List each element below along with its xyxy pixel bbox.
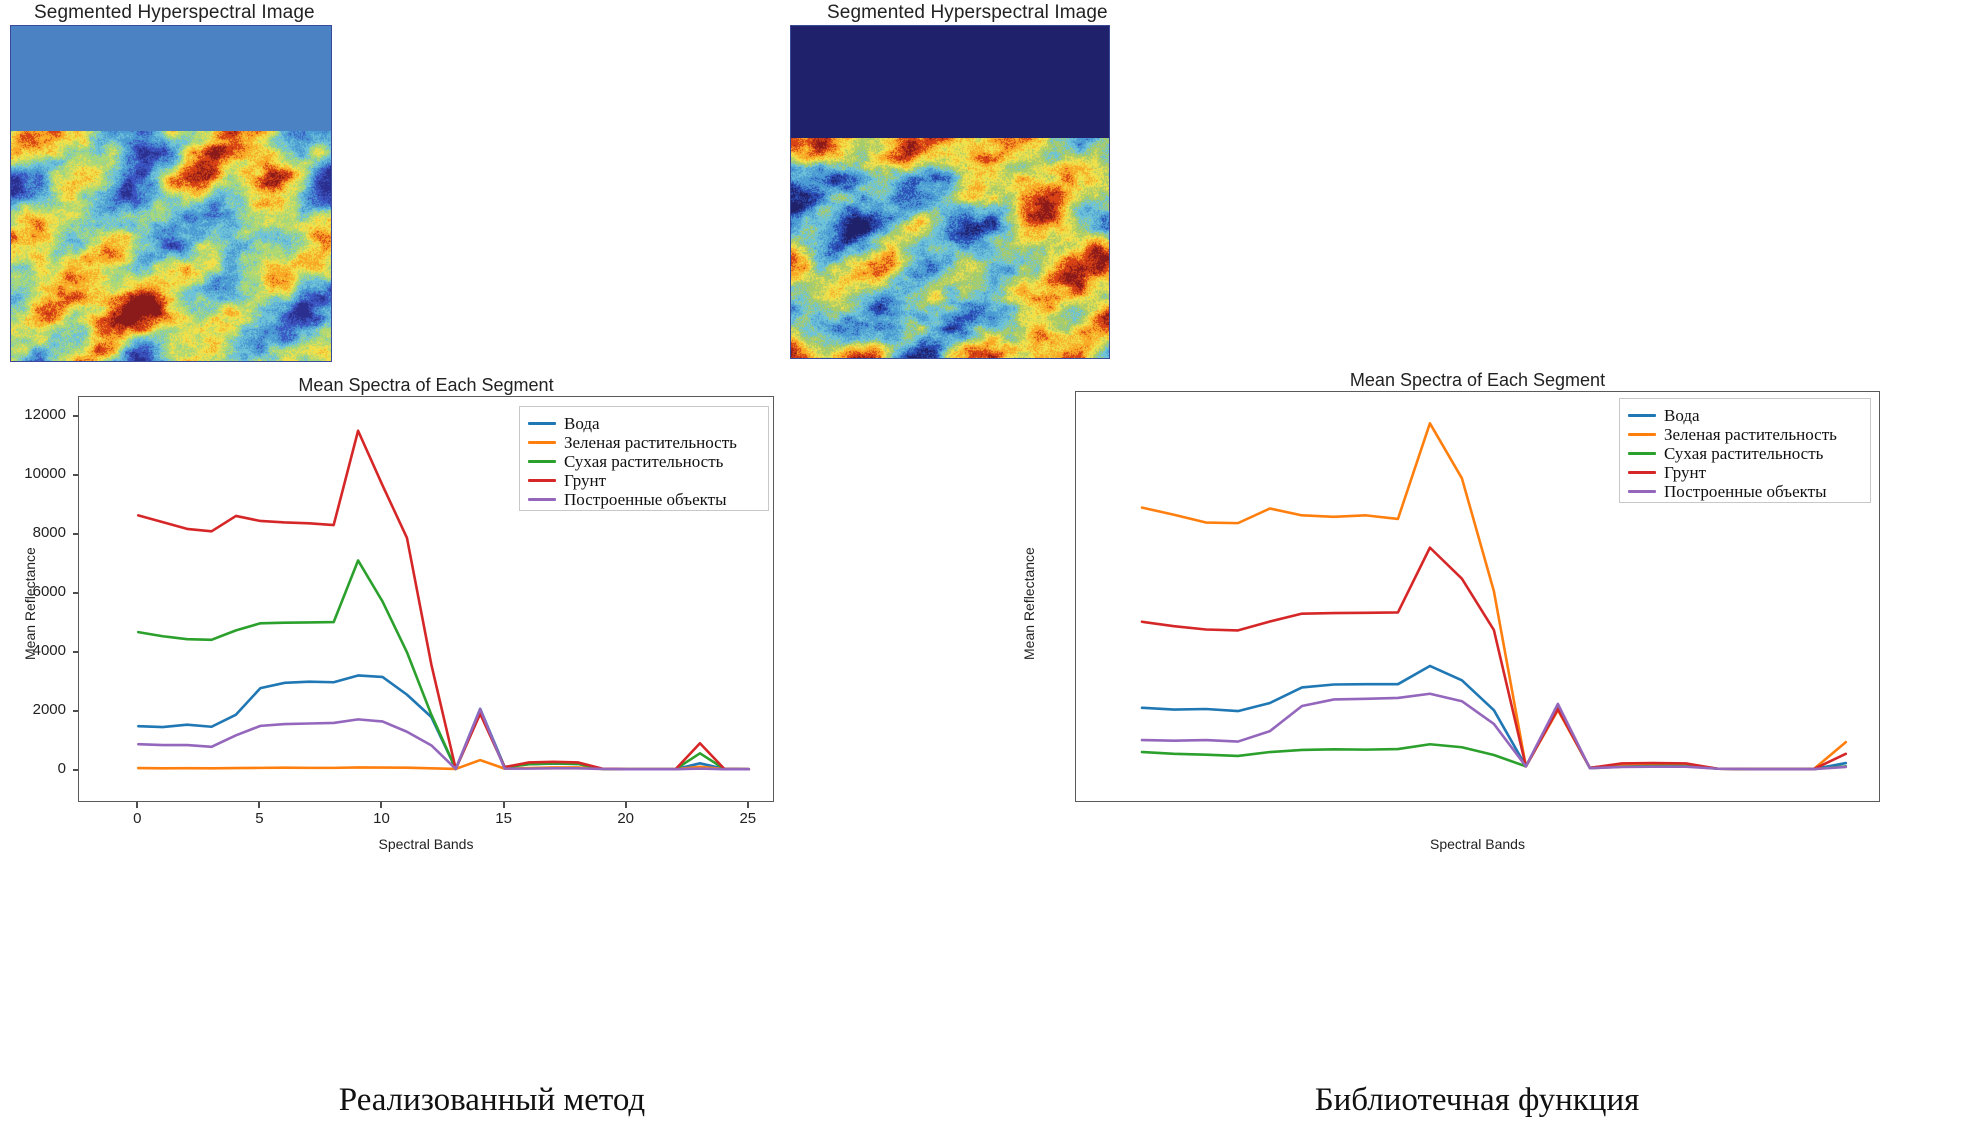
x-tick-mark-4 [625,802,627,808]
segmented-terrain-canvas [791,138,1109,358]
segmented-image-title-right: Segmented Hyperspectral Image [827,2,1108,24]
chart-right-ylabel: Mean Reflectance [1021,547,1037,660]
y-tick-label-3: 6000 [4,583,66,600]
legend-item-1[interactable]: Зеленая растительность [528,433,758,452]
segmented-image-sky-right [791,26,1109,138]
legend-swatch-icon [1628,490,1656,493]
chart-title-left: Mean Spectra of Each Segment [78,375,774,396]
legend-item-0[interactable]: Вода [1628,406,1860,425]
x-tick-mark-3 [503,802,505,808]
x-tick-mark-1 [258,802,260,808]
legend-item-3[interactable]: Грунт [1628,463,1860,482]
legend-item-label: Построенные объекты [564,490,727,509]
segmented-image-terrain-right [791,138,1109,358]
y-tick-mark-0 [73,769,78,771]
y-tick-label-0: 0 [4,760,66,777]
y-tick-mark-5 [73,474,78,476]
series-line-3 [1142,548,1846,769]
legend-item-0[interactable]: Вода [528,414,758,433]
segmented-image-right [790,25,1110,359]
legend-item-label: Грунт [564,471,606,490]
legend-item-label: Зеленая растительность [564,433,737,452]
legend-swatch-icon [528,422,556,425]
x-tick-label-4: 20 [596,810,656,827]
chart-right-xlabel: Spectral Bands [1075,836,1880,852]
segmented-image-left [10,25,332,362]
legend-item-label: Зеленая растительность [1664,425,1837,444]
legend-item-label: Сухая растительность [564,452,723,471]
legend-swatch-icon [1628,471,1656,474]
chart-left-legend: ВодаЗеленая растительностьСухая растител… [519,406,769,511]
panel-right: Segmented Hyperspectral Image Mean Spect… [985,0,1969,1147]
legend-item-label: Грунт [1664,463,1706,482]
legend-item-3[interactable]: Грунт [528,471,758,490]
series-line-1 [138,760,748,769]
y-tick-mark-1 [73,710,78,712]
legend-swatch-icon [1628,452,1656,455]
legend-item-label: Вода [1664,406,1700,425]
x-tick-label-1: 5 [229,810,289,827]
segmented-image-title-left: Segmented Hyperspectral Image [34,2,315,24]
legend-swatch-icon [528,479,556,482]
legend-swatch-icon [528,460,556,463]
legend-item-2[interactable]: Сухая растительность [1628,444,1860,463]
legend-item-4[interactable]: Построенные объекты [1628,482,1860,501]
x-tick-mark-0 [136,802,138,808]
x-tick-mark-2 [380,802,382,808]
segmented-image-sky-left [11,26,331,131]
legend-item-label: Вода [564,414,600,433]
x-tick-label-5: 25 [718,810,778,827]
y-tick-mark-4 [73,533,78,535]
y-tick-mark-3 [73,592,78,594]
x-tick-mark-5 [747,802,749,808]
caption-right: Библиотечная функция [985,1082,1969,1119]
series-line-4 [1142,694,1846,769]
chart-title-right: Mean Spectra of Each Segment [1075,370,1880,391]
x-tick-label-2: 10 [351,810,411,827]
y-tick-mark-2 [73,651,78,653]
y-tick-mark-6 [73,415,78,417]
caption-left: Реализованный метод [0,1082,984,1119]
chart-left-xlabel: Spectral Bands [78,836,774,852]
y-tick-label-6: 12000 [4,406,66,423]
chart-right-legend: ВодаЗеленая растительностьСухая растител… [1619,398,1871,503]
legend-item-2[interactable]: Сухая растительность [528,452,758,471]
x-tick-label-3: 15 [474,810,534,827]
legend-item-4[interactable]: Построенные объекты [528,490,758,509]
y-tick-label-4: 8000 [4,524,66,541]
segmented-terrain-canvas [11,131,331,361]
legend-swatch-icon [528,441,556,444]
legend-swatch-icon [528,498,556,501]
legend-swatch-icon [1628,433,1656,436]
x-tick-label-0: 0 [107,810,167,827]
legend-item-label: Построенные объекты [1664,482,1827,501]
segmented-image-terrain-left [11,131,331,361]
legend-item-label: Сухая растительность [1664,444,1823,463]
y-tick-label-1: 2000 [4,701,66,718]
legend-item-1[interactable]: Зеленая растительность [1628,425,1860,444]
legend-swatch-icon [1628,414,1656,417]
y-tick-label-5: 10000 [4,465,66,482]
y-tick-label-2: 4000 [4,642,66,659]
